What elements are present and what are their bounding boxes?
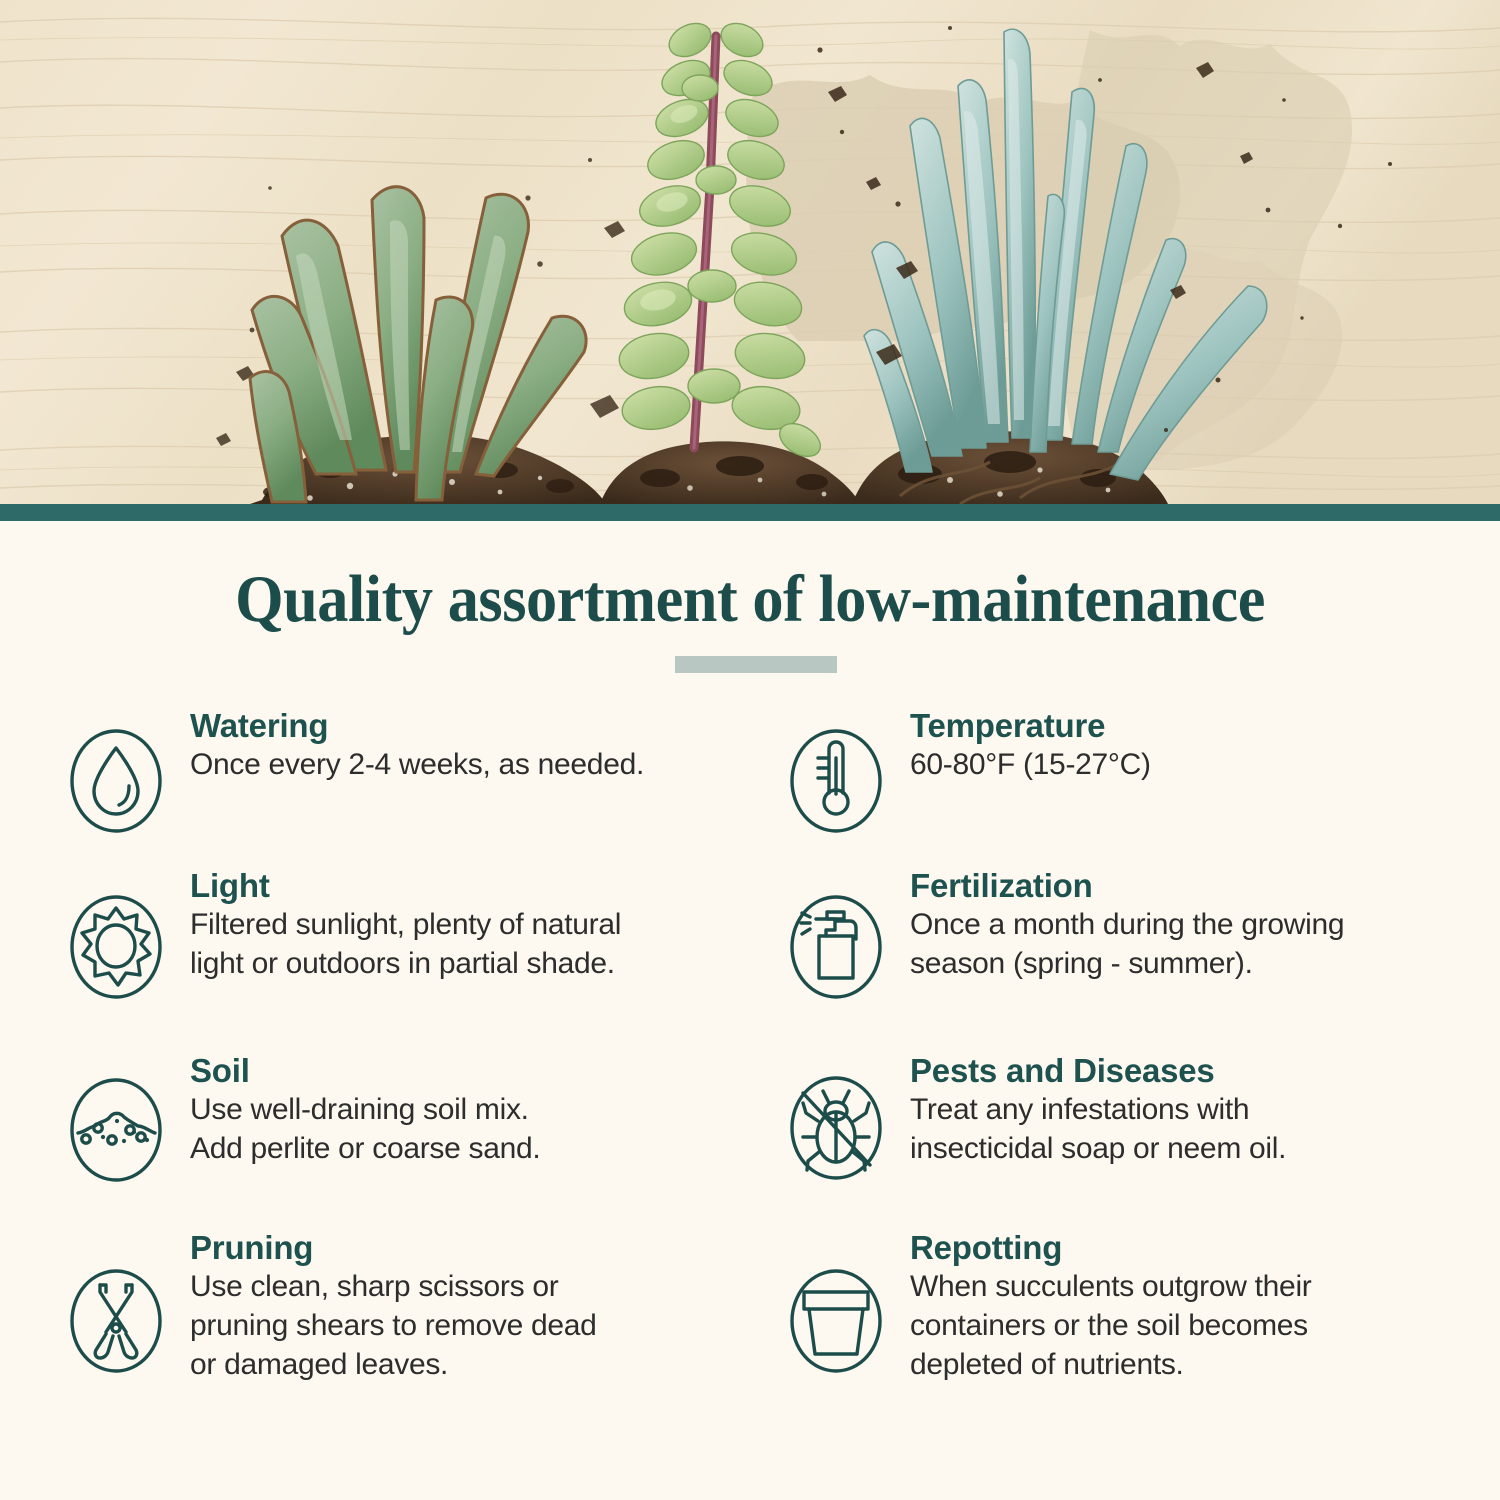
no-pest-bug-icon: [782, 1069, 890, 1187]
care-item-description: Once every 2-4 weeks, as needed.: [190, 745, 762, 784]
care-item-fertilization: Fertilization Once a month during the gr…: [782, 866, 1482, 1041]
flower-pot-icon: [782, 1262, 890, 1380]
care-item-text: Light Filtered sunlight, plenty of natur…: [190, 866, 762, 983]
care-item-text: Temperature 60-80°F (15-27°C): [910, 706, 1482, 784]
care-item-title: Watering: [190, 708, 762, 745]
care-item-text: Repotting When succulents outgrow their …: [910, 1228, 1482, 1384]
care-item-text: Watering Once every 2-4 weeks, as needed…: [190, 706, 762, 784]
care-item-text: Fertilization Once a month during the gr…: [910, 866, 1482, 983]
care-item-watering: Watering Once every 2-4 weeks, as needed…: [62, 706, 762, 881]
care-item-soil: Soil Use well-draining soil mix. Add per…: [62, 1051, 762, 1226]
sun-icon: [62, 888, 170, 1006]
care-item-repotting: Repotting When succulents outgrow their …: [782, 1228, 1482, 1403]
care-item-description: 60-80°F (15-27°C): [910, 745, 1482, 784]
thermometer-icon: [782, 722, 890, 840]
care-item-title: Light: [190, 868, 762, 905]
care-item-text: Pruning Use clean, sharp scissors or pru…: [190, 1228, 762, 1384]
care-item-temperature: Temperature 60-80°F (15-27°C): [782, 706, 1482, 881]
pruning-shears-icon: [62, 1262, 170, 1380]
care-item-pruning: Pruning Use clean, sharp scissors or pru…: [62, 1228, 762, 1403]
spray-bottle-icon: [782, 888, 890, 1006]
care-item-description: When succulents outgrow their containers…: [910, 1267, 1482, 1384]
care-item-description: Filtered sunlight, plenty of natural lig…: [190, 905, 762, 983]
page-title: Quality assortment of low-maintenance: [53, 566, 1448, 633]
title-accent-bar: [675, 656, 837, 673]
water-drop-icon: [62, 722, 170, 840]
care-item-title: Pests and Diseases: [910, 1053, 1482, 1090]
care-item-title: Soil: [190, 1053, 762, 1090]
care-item-light: Light Filtered sunlight, plenty of natur…: [62, 866, 762, 1041]
care-item-text: Pests and Diseases Treat any infestation…: [910, 1051, 1482, 1168]
hero-photo-banner: [0, 0, 1500, 504]
care-item-text: Soil Use well-draining soil mix. Add per…: [190, 1051, 762, 1168]
care-item-title: Repotting: [910, 1230, 1482, 1267]
teal-divider-bar: [0, 504, 1500, 521]
care-guide-panel: Quality assortment of low-maintenance Wa…: [0, 521, 1500, 1500]
care-item-description: Use well-draining soil mix. Add perlite …: [190, 1090, 762, 1168]
care-item-description: Treat any infestations with insecticidal…: [910, 1090, 1482, 1168]
soil-mound-icon: [62, 1071, 170, 1189]
care-item-title: Fertilization: [910, 868, 1482, 905]
care-item-pests: Pests and Diseases Treat any infestation…: [782, 1051, 1482, 1226]
care-item-description: Use clean, sharp scissors or pruning she…: [190, 1267, 762, 1384]
care-item-title: Pruning: [190, 1230, 762, 1267]
care-item-title: Temperature: [910, 708, 1482, 745]
succulents-photo: [0, 0, 1500, 504]
care-item-description: Once a month during the growing season (…: [910, 905, 1482, 983]
